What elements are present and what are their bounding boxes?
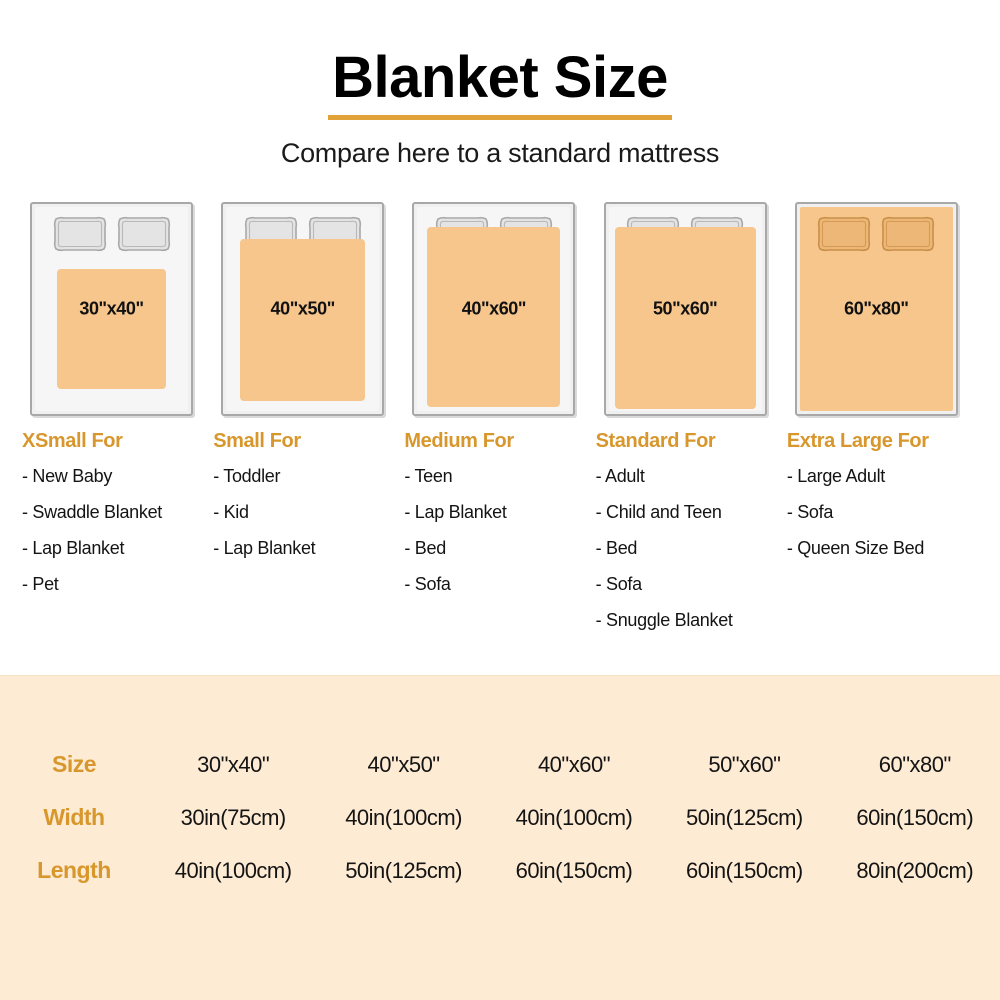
- table-cell: 50in(125cm): [659, 791, 829, 844]
- table-cell: 40in(100cm): [148, 844, 318, 897]
- table-row: Size30"x40"40"x50"40"x60"50"x60"60"x80": [0, 738, 1000, 791]
- table-cell: 60in(150cm): [830, 791, 1000, 844]
- bed-cell-1: 30"x40": [22, 198, 213, 426]
- size-table-body: Size30"x40"40"x50"40"x60"50"x60"60"x80"W…: [0, 738, 1000, 897]
- list-item: - Toddler: [213, 467, 398, 485]
- blanket-size-label: 40"x60": [417, 299, 570, 320]
- table-cell: 60in(150cm): [659, 844, 829, 897]
- list-item: - Kid: [213, 503, 398, 521]
- list-item: - Swaddle Blanket: [22, 503, 207, 521]
- list-item: - Pet: [22, 575, 207, 593]
- table-row: Width30in(75cm)40in(100cm)40in(100cm)50i…: [0, 791, 1000, 844]
- mattress: 30"x40": [35, 207, 188, 411]
- size-table: Size30"x40"40"x50"40"x60"50"x60"60"x80"W…: [0, 738, 1000, 897]
- list-item: - Teen: [404, 467, 589, 485]
- table-cell: 50in(125cm): [318, 844, 488, 897]
- list-item: - Large Adult: [787, 467, 972, 485]
- list-item: - Lap Blanket: [22, 539, 207, 557]
- mattress: 60"x80": [800, 207, 953, 411]
- bed-illustration: 40"x50": [221, 202, 384, 416]
- bed-cell-4: 50"x60": [596, 198, 787, 426]
- table-row-label: Length: [0, 844, 148, 897]
- table-cell: 30in(75cm): [148, 791, 318, 844]
- pillow-group: [800, 215, 953, 255]
- table-cell: 40in(100cm): [489, 791, 659, 844]
- pillow-icon: [116, 215, 172, 253]
- list-item: - Snuggle Blanket: [596, 611, 781, 629]
- bed-illustration: 60"x80": [795, 202, 958, 416]
- list-item: - Sofa: [596, 575, 781, 593]
- blanket-size-label: 60"x80": [800, 299, 953, 320]
- list-item: - New Baby: [22, 467, 207, 485]
- pillow-group: [35, 215, 188, 255]
- table-cell: 50"x60": [659, 738, 829, 791]
- mattress: 40"x50": [226, 207, 379, 411]
- usage-list-column-3: Medium For- Teen- Lap Blanket- Bed- Sofa: [404, 430, 595, 647]
- table-cell: 60in(150cm): [489, 844, 659, 897]
- list-item: - Sofa: [787, 503, 972, 521]
- list-item: - Lap Blanket: [404, 503, 589, 521]
- list-item: - Bed: [404, 539, 589, 557]
- list-item: - Bed: [596, 539, 781, 557]
- mattress: 50"x60": [609, 207, 762, 411]
- list-item: - Child and Teen: [596, 503, 781, 521]
- usage-list-heading: Medium For: [404, 430, 589, 453]
- mattress: 40"x60": [417, 207, 570, 411]
- bed-illustration: 30"x40": [30, 202, 193, 416]
- table-row-label: Width: [0, 791, 148, 844]
- list-item: - Adult: [596, 467, 781, 485]
- usage-list-heading: XSmall For: [22, 430, 207, 453]
- table-row-label: Size: [0, 738, 148, 791]
- usage-list-column-4: Standard For- Adult- Child and Teen- Bed…: [596, 430, 787, 647]
- usage-list-heading: Small For: [213, 430, 398, 453]
- table-cell: 60"x80": [830, 738, 1000, 791]
- bed-cell-2: 40"x50": [213, 198, 404, 426]
- page-title: Blanket Size: [328, 48, 672, 120]
- bed-cell-5: 60"x80": [787, 198, 978, 426]
- usage-lists-row: XSmall For- New Baby- Swaddle Blanket- L…: [0, 430, 1000, 647]
- table-cell: 30"x40": [148, 738, 318, 791]
- size-table-section: Size30"x40"40"x50"40"x60"50"x60"60"x80"W…: [0, 675, 1000, 1000]
- usage-list-column-1: XSmall For- New Baby- Swaddle Blanket- L…: [22, 430, 213, 647]
- usage-list-heading: Standard For: [596, 430, 781, 453]
- table-cell: 40"x60": [489, 738, 659, 791]
- pillow-icon: [880, 215, 936, 253]
- bed-illustrations-row: 30"x40"40"x50"40"x60"50"x60"60"x80": [0, 198, 1000, 426]
- blanket-size-label: 50"x60": [609, 299, 762, 320]
- list-item: - Queen Size Bed: [787, 539, 972, 557]
- table-cell: 40in(100cm): [318, 791, 488, 844]
- usage-list-heading: Extra Large For: [787, 430, 972, 453]
- bed-illustration: 40"x60": [412, 202, 575, 416]
- table-row: Length40in(100cm)50in(125cm)60in(150cm)6…: [0, 844, 1000, 897]
- bed-cell-3: 40"x60": [404, 198, 595, 426]
- list-item: - Lap Blanket: [213, 539, 398, 557]
- table-cell: 40"x50": [318, 738, 488, 791]
- blanket-size-label: 30"x40": [35, 299, 188, 320]
- pillow-icon: [52, 215, 108, 253]
- bed-illustration: 50"x60": [604, 202, 767, 416]
- page-header: Blanket Size Compare here to a standard …: [0, 0, 1000, 169]
- usage-list-column-5: Extra Large For- Large Adult- Sofa- Quee…: [787, 430, 978, 647]
- pillow-icon: [816, 215, 872, 253]
- list-item: - Sofa: [404, 575, 589, 593]
- table-cell: 80in(200cm): [830, 844, 1000, 897]
- blanket-overlay: [240, 239, 365, 401]
- blanket-overlay: [57, 269, 166, 389]
- page-subtitle: Compare here to a standard mattress: [0, 138, 1000, 169]
- usage-list-column-2: Small For- Toddler- Kid- Lap Blanket: [213, 430, 404, 647]
- blanket-size-label: 40"x50": [226, 299, 379, 320]
